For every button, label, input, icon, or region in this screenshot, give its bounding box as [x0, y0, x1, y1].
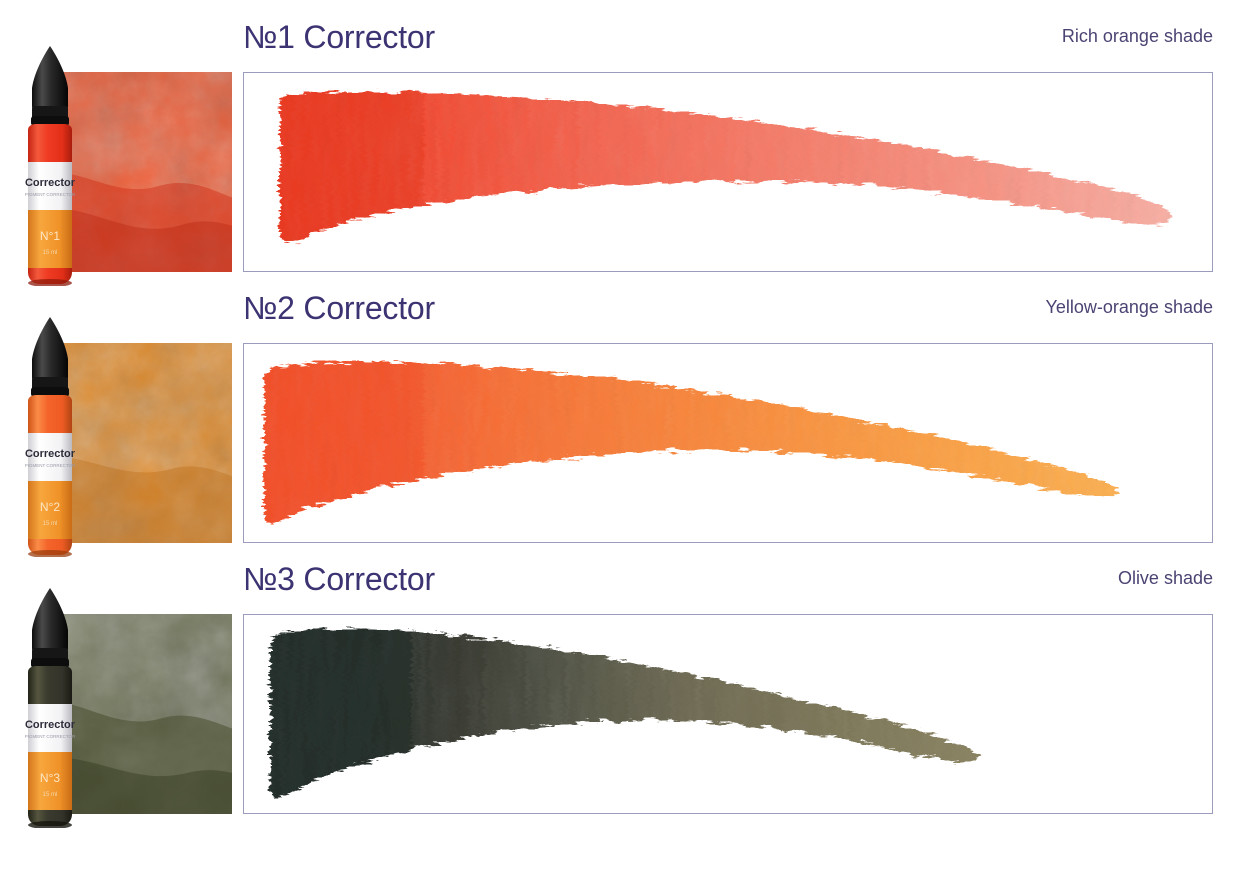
product-row: №︎2 Corrector Yellow-orange shade — [0, 271, 1233, 542]
bottle-label-volume: 15 ml — [43, 792, 58, 798]
bottle-graphic: Corrector PIGMENT CORRECTOR N°1 15 ml — [14, 44, 86, 286]
bottle-label-name: Corrector — [25, 177, 76, 189]
bottle-label-name: Corrector — [25, 448, 76, 460]
brush-swatch — [244, 344, 1212, 542]
bottle-graphic: Corrector PIGMENT CORRECTOR N°3 15 ml — [14, 586, 86, 828]
swatch-card — [243, 72, 1213, 272]
product-header: №︎3 Corrector Olive shade — [0, 542, 1233, 614]
bottle-label-volume: 15 ml — [43, 521, 58, 527]
product-row: №︎1 Corrector Rich orange shade — [0, 0, 1233, 271]
swatch-card — [243, 614, 1213, 814]
product-bottle: Corrector PIGMENT CORRECTOR N°1 15 ml — [14, 44, 86, 286]
page-title: №︎3 Corrector — [243, 561, 435, 598]
product-header: №︎2 Corrector Yellow-orange shade — [0, 271, 1233, 343]
svg-text:PIGMENT CORRECTOR: PIGMENT CORRECTOR — [25, 192, 76, 197]
bottle-label-number: N°2 — [40, 500, 60, 514]
product-row: №︎3 Corrector Olive shade — [0, 542, 1233, 813]
svg-text:PIGMENT CORRECTOR: PIGMENT CORRECTOR — [25, 734, 76, 739]
brush-swatch — [244, 73, 1212, 271]
bottle-label-name: Corrector — [25, 719, 76, 731]
page-title: №︎1 Corrector — [243, 19, 435, 56]
bottle-label-volume: 15 ml — [43, 250, 58, 256]
product-header: №︎1 Corrector Rich orange shade — [0, 0, 1233, 72]
brush-swatch — [244, 615, 1212, 813]
shade-description: Yellow-orange shade — [1046, 297, 1213, 318]
bottle-label-number: N°1 — [40, 229, 60, 243]
product-bottle: Corrector PIGMENT CORRECTOR N°3 15 ml — [14, 586, 86, 828]
shade-description: Olive shade — [1118, 568, 1213, 589]
product-bottle: Corrector PIGMENT CORRECTOR N°2 15 ml — [14, 315, 86, 557]
bottle-label-number: N°3 — [40, 771, 60, 785]
swatch-card — [243, 343, 1213, 543]
shade-description: Rich orange shade — [1062, 26, 1213, 47]
bottle-graphic: Corrector PIGMENT CORRECTOR N°2 15 ml — [14, 315, 86, 557]
page-title: №︎2 Corrector — [243, 290, 435, 327]
svg-text:PIGMENT CORRECTOR: PIGMENT CORRECTOR — [25, 463, 76, 468]
